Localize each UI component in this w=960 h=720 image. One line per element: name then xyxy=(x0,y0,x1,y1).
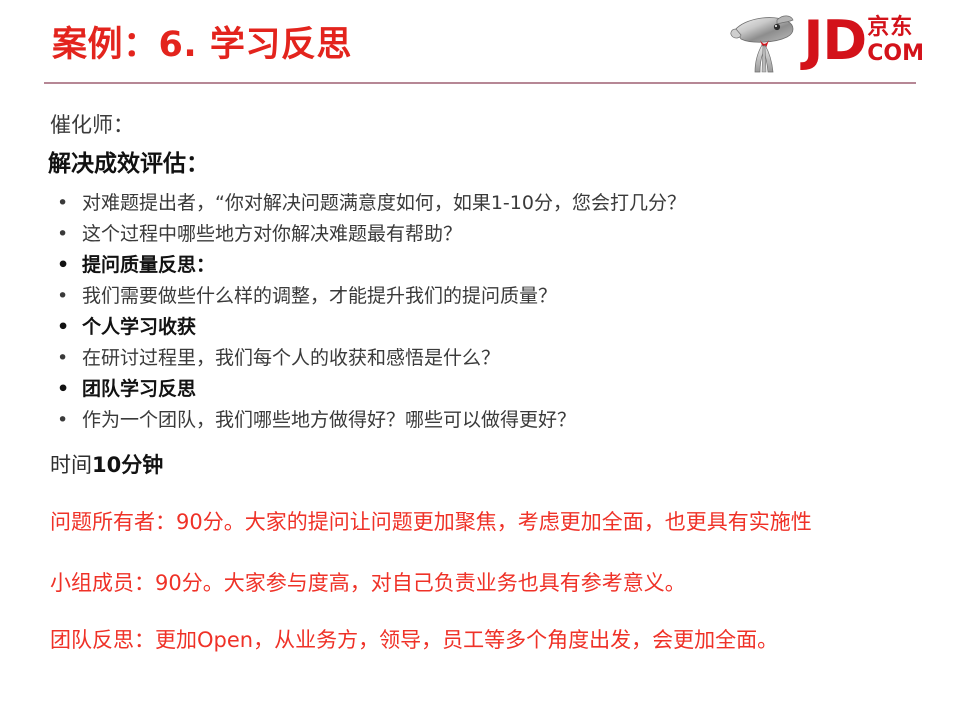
bullet-marker-icon: • xyxy=(57,281,68,312)
page-title: 案例：6. 学习反思 xyxy=(52,22,352,68)
jd-logo-right-stack: 京东 COM xyxy=(867,12,924,66)
list-item: • 个人学习收获 xyxy=(57,312,960,343)
slide-canvas: 案例：6. 学习反思 xyxy=(0,0,960,720)
duration-prefix: 时间 xyxy=(50,453,92,477)
list-item-label: 在研讨过程里，我们每个人的收获和感悟是什么？ xyxy=(82,347,500,369)
red-note-group-members: 小组成员：90分。大家参与度高，对自己负责业务也具有参考意义。 xyxy=(50,567,916,600)
jd-logo-jd-text: JD xyxy=(803,12,866,70)
red-note-problem-owner: 问题所有者：90分。大家的提问让问题更加聚焦，考虑更加全面，也更具有实施性 xyxy=(50,506,938,539)
duration-note: 时间10分钟 xyxy=(50,450,960,480)
jd-logo-com-text: COM xyxy=(867,42,924,66)
list-item: • 这个过程中哪些地方对你解决难题最有帮助？ xyxy=(57,219,960,250)
slide-header: 案例：6. 学习反思 xyxy=(0,0,960,92)
list-item-label: 我们需要做些什么样的调整，才能提升我们的提问质量？ xyxy=(82,285,557,307)
list-item-label: 个人学习收获 xyxy=(82,316,196,338)
bullet-marker-icon: • xyxy=(57,188,68,219)
duration-value: 10分钟 xyxy=(92,453,163,477)
bullet-list: • 对难题提出者，“你对解决问题满意度如何，如果1-10分，您会打几分？ • 这… xyxy=(0,188,960,436)
list-item: • 团队学习反思 xyxy=(57,374,960,405)
list-item: • 我们需要做些什么样的调整，才能提升我们的提问质量？ xyxy=(57,281,960,312)
red-note-team-reflection: 团队反思：更加Open，从业务方，领导，员工等多个角度出发，会更加全面。 xyxy=(50,624,916,657)
list-item-label: 作为一个团队，我们哪些地方做得好？哪些可以做得更好？ xyxy=(82,409,576,431)
jd-logo-cn-text: 京东 xyxy=(867,16,924,40)
slide-body: 催化师： 解决成效评估： • 对难题提出者，“你对解决问题满意度如何，如果1-1… xyxy=(0,92,960,657)
list-item: • 在研讨过程里，我们每个人的收获和感悟是什么？ xyxy=(57,343,960,374)
jd-logo: JD 京东 COM xyxy=(729,12,924,74)
bullet-marker-icon: • xyxy=(57,405,68,436)
facilitator-label: 催化师： xyxy=(50,110,960,140)
bullet-marker-icon: • xyxy=(57,250,69,281)
bullet-marker-icon: • xyxy=(57,219,68,250)
section-heading: 解决成效评估： xyxy=(48,148,960,180)
header-divider xyxy=(44,82,916,84)
bullet-marker-icon: • xyxy=(57,312,69,343)
list-item-label: 提问质量反思： xyxy=(82,254,215,276)
list-item: • 对难题提出者，“你对解决问题满意度如何，如果1-10分，您会打几分？ xyxy=(57,188,960,219)
list-item-label: 这个过程中哪些地方对你解决难题最有帮助？ xyxy=(82,223,462,245)
bullet-marker-icon: • xyxy=(57,343,68,374)
bullet-marker-icon: • xyxy=(57,374,69,405)
jd-dog-mascot-icon xyxy=(729,12,801,74)
list-item: • 提问质量反思： xyxy=(57,250,960,281)
list-item-label: 团队学习反思 xyxy=(82,378,196,400)
list-item: • 作为一个团队，我们哪些地方做得好？哪些可以做得更好？ xyxy=(57,405,960,436)
list-item-label: 对难题提出者，“你对解决问题满意度如何，如果1-10分，您会打几分？ xyxy=(82,192,686,214)
jd-logo-text: JD 京东 COM xyxy=(803,12,924,74)
